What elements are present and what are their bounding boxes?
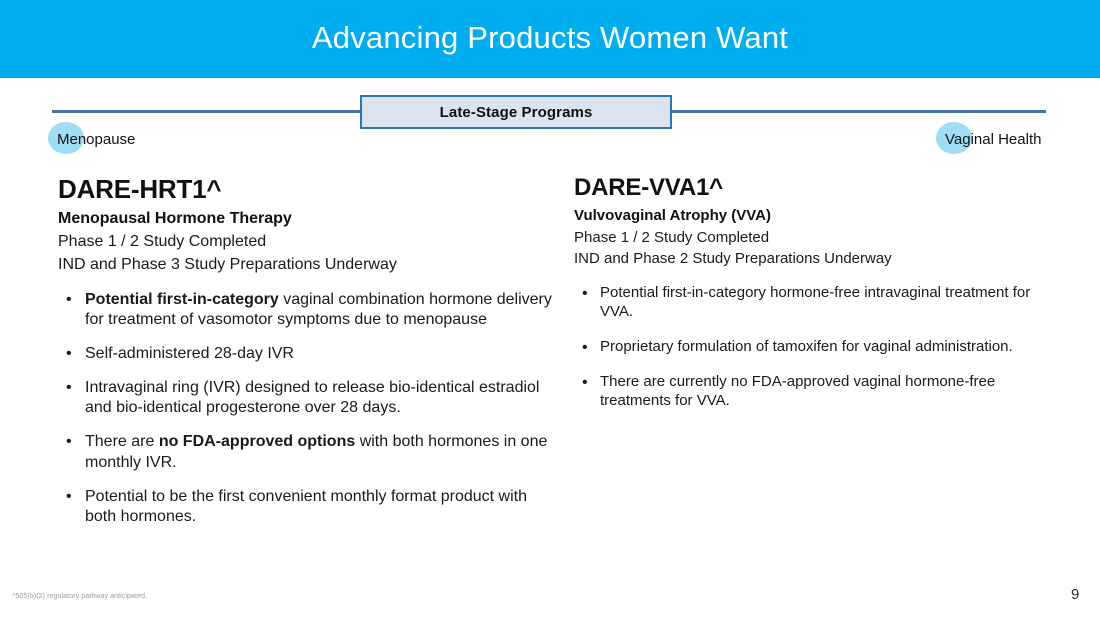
title-banner: Advancing Products Women Want: [0, 0, 1100, 78]
bullet-item: •Potential first-in-category vaginal com…: [58, 290, 558, 330]
program-indication: Menopausal Hormone Therapy: [58, 207, 558, 230]
bullet-marker-icon: •: [66, 378, 72, 398]
bullet-text: Potential first-in-category vaginal comb…: [85, 291, 552, 328]
bullet-item: •Potential to be the first convenient mo…: [58, 487, 558, 527]
bullet-marker-icon: •: [582, 284, 588, 304]
section-chip-label: Late-Stage Programs: [440, 104, 593, 121]
bullet-text: Proprietary formulation of tamoxifen for…: [600, 338, 1013, 355]
program-status-line: Phase 1 / 2 Study Completed: [574, 227, 1044, 249]
program-column-dare-vva1: DARE-VVA1^ Vulvovaginal Atrophy (VVA) Ph…: [574, 175, 1044, 427]
bullet-item: •There are no FDA-approved options with …: [58, 432, 558, 472]
category-pill-menopause: Menopause: [48, 122, 135, 156]
bullet-emphasis: Potential first-in-category: [85, 291, 279, 308]
bullet-text: Self-administered 28-day IVR: [85, 345, 294, 362]
bullet-text: Potential to be the first convenient mon…: [85, 488, 527, 525]
bullet-marker-icon: •: [582, 338, 588, 358]
bullet-item: •Intravaginal ring (IVR) designed to rel…: [58, 378, 558, 418]
program-column-dare-hrt1: DARE-HRT1^ Menopausal Hormone Therapy Ph…: [58, 175, 558, 541]
program-status-line: IND and Phase 2 Study Preparations Under…: [574, 248, 1044, 270]
slide-title: Advancing Products Women Want: [0, 0, 1100, 78]
category-pill-label: Menopause: [48, 131, 135, 148]
category-pill-label: Vaginal Health: [936, 131, 1041, 148]
bullet-emphasis: no FDA-approved options: [159, 433, 355, 450]
bullet-item: •There are currently no FDA-approved vag…: [574, 373, 1044, 411]
bullet-text: Intravaginal ring (IVR) designed to rele…: [85, 379, 539, 416]
category-pill-vaginal-health: Vaginal Health: [936, 122, 1041, 156]
section-chip-late-stage-programs: Late-Stage Programs: [360, 95, 672, 129]
footnote: ^505(b)(2) regulatory pathway anticipate…: [12, 593, 147, 600]
bullet-item: •Proprietary formulation of tamoxifen fo…: [574, 338, 1044, 357]
bullet-marker-icon: •: [66, 344, 72, 364]
bullet-marker-icon: •: [66, 487, 72, 507]
bullet-marker-icon: •: [66, 432, 72, 452]
bullet-item: •Potential first-in-category hormone-fre…: [574, 284, 1044, 322]
bullet-text: Potential first-in-category hormone-free…: [600, 284, 1030, 320]
program-status-line: IND and Phase 3 Study Preparations Under…: [58, 253, 558, 276]
bullet-text: There are currently no FDA-approved vagi…: [600, 373, 995, 409]
program-indication: Vulvovaginal Atrophy (VVA): [574, 205, 1044, 227]
program-bullet-list: •Potential first-in-category vaginal com…: [58, 290, 558, 527]
bullet-marker-icon: •: [582, 373, 588, 393]
program-name: DARE-VVA1^: [574, 175, 1044, 202]
bullet-item: •Self-administered 28-day IVR: [58, 344, 558, 364]
page-number: 9: [1071, 586, 1079, 603]
bullet-marker-icon: •: [66, 290, 72, 310]
program-bullet-list: •Potential first-in-category hormone-fre…: [574, 284, 1044, 410]
bullet-text: There are no FDA-approved options with b…: [85, 433, 547, 470]
program-status-line: Phase 1 / 2 Study Completed: [58, 230, 558, 253]
program-name: DARE-HRT1^: [58, 175, 558, 204]
